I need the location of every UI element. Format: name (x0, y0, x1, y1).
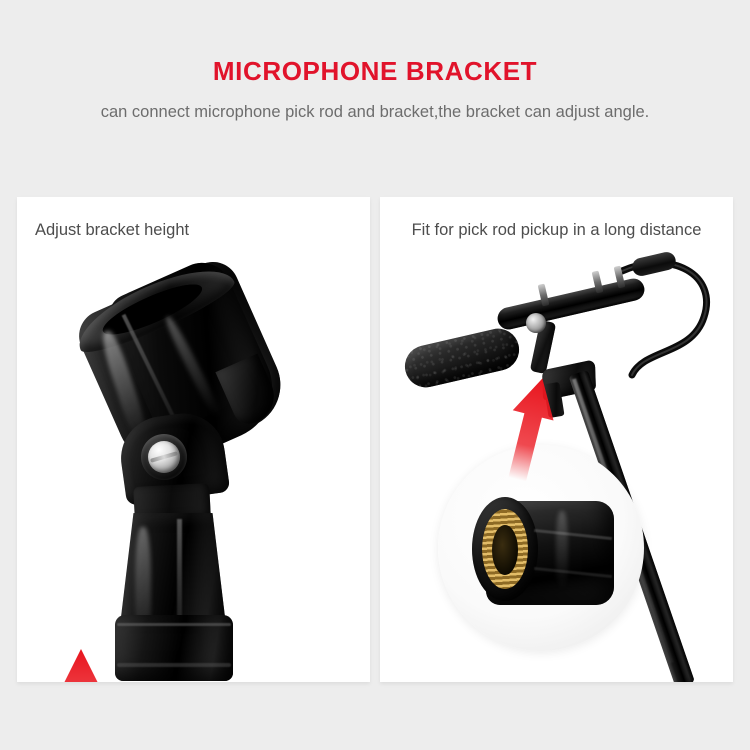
product-illustration-boom-mic (380, 197, 733, 682)
page-header: MICROPHONE BRACKET can connect microphon… (0, 0, 750, 197)
bracket-clamp-knob (526, 313, 546, 333)
page-subtitle: can connect microphone pick rod and brac… (75, 99, 675, 126)
inset-adapter-closeup (438, 445, 644, 651)
arrow-up-icon (63, 647, 99, 682)
feature-panel-adjust-height: Adjust bracket height (17, 197, 370, 682)
product-illustration-bracket (17, 197, 370, 682)
page-title: MICROPHONE BRACKET (0, 55, 750, 87)
foam-windscreen (401, 324, 523, 391)
feature-panel-pick-rod: Fit for pick rod pickup in a long distan… (380, 197, 733, 682)
